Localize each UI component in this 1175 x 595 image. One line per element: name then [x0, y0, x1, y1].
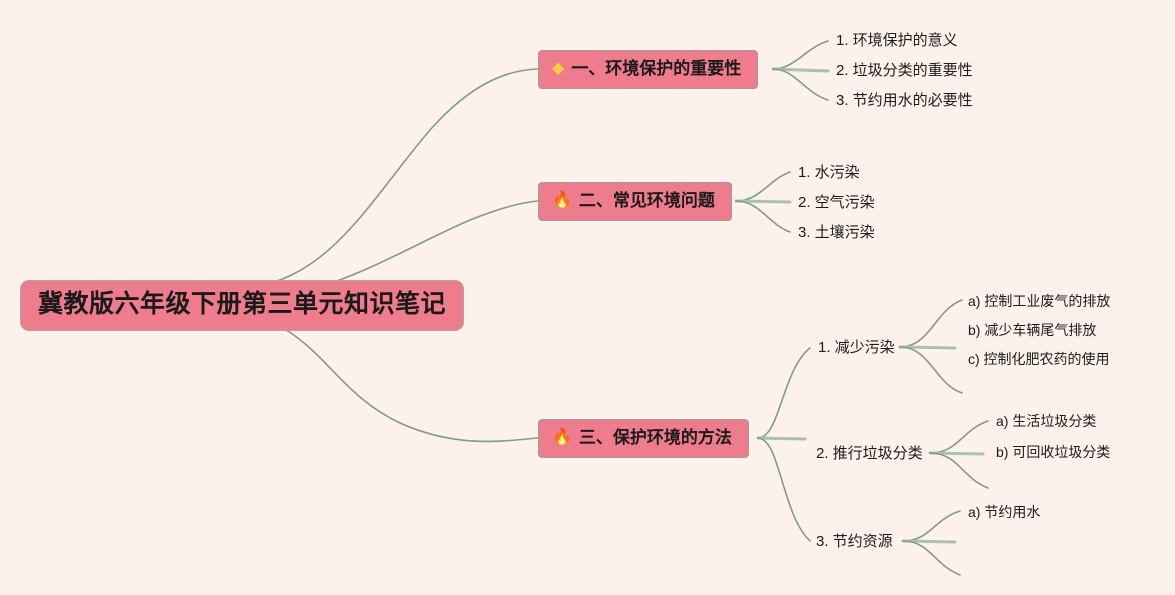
subleaf-node-3-3-a-label: a) 节约用水 [968, 504, 1040, 520]
leaf-node-2-2-label: 2. 空气污染 [798, 194, 875, 211]
subleaf-node-3-1-c[interactable]: c) 控制化肥农药的使用 [968, 350, 1110, 370]
subleaf-node-3-3-a[interactable]: a) 节约用水 [968, 503, 1040, 523]
subleaf-node-3-1-b[interactable]: b) 减少车辆尾气排放 [968, 321, 1096, 341]
leaf-node-1-1-label: 1. 环境保护的意义 [836, 32, 958, 49]
fire-icon: 🔥 [552, 430, 572, 446]
edge-leaf31-sub1 [900, 300, 962, 347]
subleaf-node-3-2-a[interactable]: a) 生活垃圾分类 [996, 412, 1096, 432]
subleaf-node-3-1-c-label: c) 控制化肥农药的使用 [968, 351, 1110, 367]
edge-root-branch3 [245, 314, 538, 441]
subleaf-node-3-2-b[interactable]: b) 可回收垃圾分类 [996, 443, 1110, 463]
subleaf-node-3-1-b-label: b) 减少车辆尾气排放 [968, 322, 1096, 338]
leaf-node-3-3[interactable]: 3. 节约资源 [816, 532, 893, 553]
edge-leaf32-sub1 [930, 421, 988, 453]
leaf-node-1-2[interactable]: 2. 垃圾分类的重要性 [836, 61, 973, 82]
gem-icon: ◆ [552, 61, 564, 77]
leaf-node-3-1[interactable]: 1. 减少污染 [818, 338, 895, 359]
edge-branch1-leaf3 [773, 69, 828, 100]
mindmap-canvas: 冀教版六年级下册第三单元知识笔记 ◆ 一、环境保护的重要性 1. 环境保护的意义… [0, 0, 1175, 595]
leaf-node-2-3-label: 3. 土壤污染 [798, 224, 875, 241]
leaf-node-3-3-label: 3. 节约资源 [816, 533, 893, 550]
edge-leaf33-sub2 [903, 541, 955, 542]
edge-branch3-leaf1 [758, 348, 810, 438]
subleaf-node-3-2-a-label: a) 生活垃圾分类 [996, 413, 1096, 429]
edge-leaf31-sub3 [900, 347, 962, 393]
leaf-node-2-2[interactable]: 2. 空气污染 [798, 193, 875, 214]
edge-branch3-leaf2 [758, 438, 805, 439]
edge-branch1-leaf2 [773, 69, 828, 71]
leaf-node-2-1[interactable]: 1. 水污染 [798, 163, 860, 184]
branch-node-3-label: 三、保护环境的方法 [579, 428, 732, 448]
branch-node-3[interactable]: 🔥 三、保护环境的方法 [538, 419, 749, 458]
branch-node-1-label: 一、环境保护的重要性 [571, 59, 741, 79]
edge-root-branch1 [245, 69, 538, 288]
edge-branch3-leaf3 [758, 438, 810, 541]
edge-leaf31-sub2 [900, 347, 955, 348]
leaf-node-1-2-label: 2. 垃圾分类的重要性 [836, 62, 973, 79]
branch-node-2-label: 二、常见环境问题 [579, 191, 715, 211]
leaf-node-1-3-label: 3. 节约用水的必要性 [836, 92, 973, 109]
leaf-node-1-3[interactable]: 3. 节约用水的必要性 [836, 91, 973, 112]
subleaf-node-3-1-a-label: a) 控制工业废气的排放 [968, 293, 1110, 309]
edge-leaf32-sub2 [930, 453, 983, 454]
branch-node-1[interactable]: ◆ 一、环境保护的重要性 [538, 50, 758, 89]
subleaf-node-3-2-b-label: b) 可回收垃圾分类 [996, 444, 1110, 460]
leaf-node-3-1-label: 1. 减少污染 [818, 339, 895, 356]
root-node[interactable]: 冀教版六年级下册第三单元知识笔记 [20, 280, 464, 331]
edge-leaf33-sub1 [903, 511, 960, 541]
leaf-node-1-1[interactable]: 1. 环境保护的意义 [836, 31, 958, 52]
edge-branch2-leaf1 [736, 172, 790, 201]
root-node-label: 冀教版六年级下册第三单元知识笔记 [38, 290, 446, 319]
edge-branch1-leaf1 [773, 41, 828, 69]
leaf-node-3-2-label: 2. 推行垃圾分类 [816, 445, 923, 462]
leaf-node-3-2[interactable]: 2. 推行垃圾分类 [816, 444, 923, 465]
subleaf-node-3-1-a[interactable]: a) 控制工业废气的排放 [968, 292, 1110, 312]
leaf-node-2-3[interactable]: 3. 土壤污染 [798, 223, 875, 244]
leaf-node-2-1-label: 1. 水污染 [798, 164, 860, 181]
fire-icon: 🔥 [552, 193, 572, 209]
edge-branch2-leaf2 [736, 201, 790, 202]
edge-branch2-leaf3 [736, 201, 790, 232]
edge-leaf33-sub3 [903, 541, 960, 575]
edge-leaf32-sub3 [930, 453, 988, 488]
branch-node-2[interactable]: 🔥 二、常见环境问题 [538, 182, 732, 221]
